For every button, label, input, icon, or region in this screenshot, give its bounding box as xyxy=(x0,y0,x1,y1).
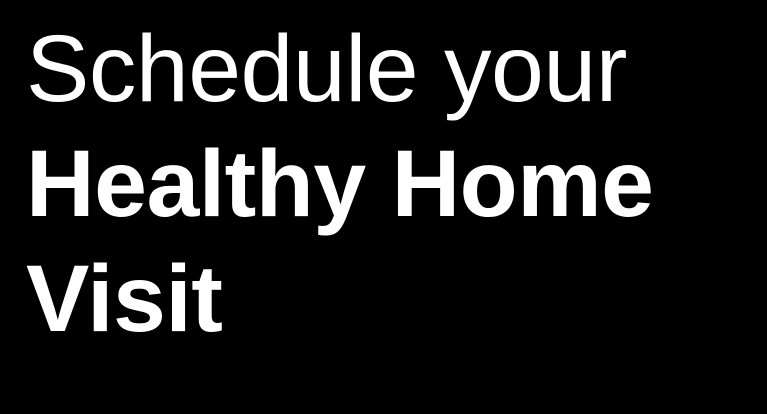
headline-block: Schedule your Healthy Home Visit xyxy=(26,0,746,357)
headline-line-2: Healthy Home xyxy=(26,127,746,242)
headline-line-1: Schedule your xyxy=(26,12,746,127)
screen-canvas: Schedule your Healthy Home Visit xyxy=(0,0,767,414)
headline-line-3: Visit xyxy=(26,242,746,357)
